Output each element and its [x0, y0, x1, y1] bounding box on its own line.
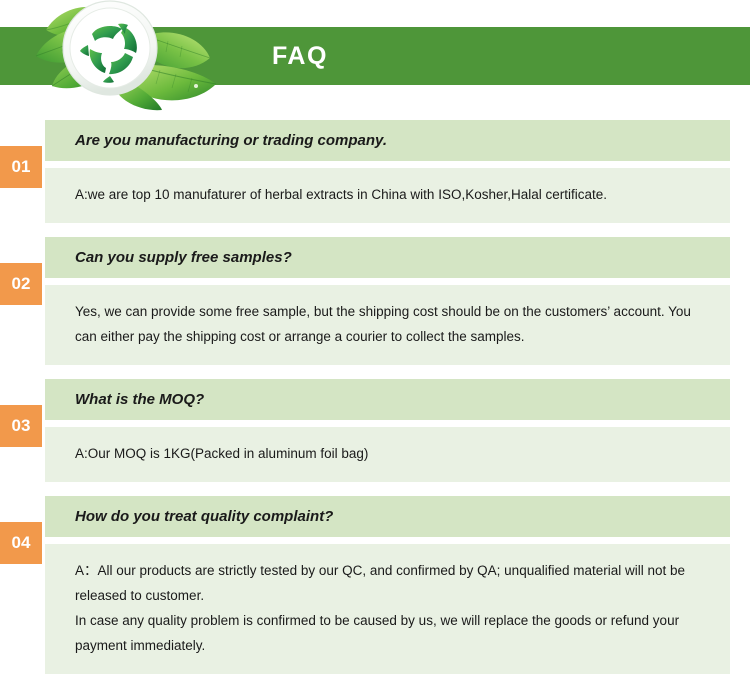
- faq-spacer: [45, 278, 730, 285]
- faq-spacer: [45, 537, 730, 544]
- faq-question[interactable]: What is the MOQ?: [45, 379, 730, 420]
- faq-number-badge: 02: [0, 263, 42, 305]
- faq-number-badge: 04: [0, 522, 42, 564]
- faq-answer-line: In case any quality problem is confirmed…: [75, 608, 708, 658]
- faq-answer-line: A：All our products are strictly tested b…: [75, 558, 708, 608]
- faq-answer: A:we are top 10 manufaturer of herbal ex…: [45, 168, 730, 223]
- green-leaf-recycle-logo: [18, 0, 228, 112]
- faq-answer-line: A:Our MOQ is 1KG(Packed in aluminum foil…: [75, 441, 708, 466]
- faq-qa-block: What is the MOQ? A:Our MOQ is 1KG(Packed…: [45, 379, 730, 482]
- faq-question[interactable]: How do you treat quality complaint?: [45, 496, 730, 537]
- faq-number-badge: 03: [0, 405, 42, 447]
- faq-spacer: [45, 161, 730, 168]
- faq-item: 03 What is the MOQ? A:Our MOQ is 1KG(Pac…: [0, 379, 750, 482]
- faq-question[interactable]: Are you manufacturing or trading company…: [45, 120, 730, 161]
- faq-item: 04 How do you treat quality complaint? A…: [0, 496, 750, 674]
- faq-item: 01 Are you manufacturing or trading comp…: [0, 120, 750, 223]
- faq-item: 02 Can you supply free samples? Yes, we …: [0, 237, 750, 365]
- faq-answer: A:Our MOQ is 1KG(Packed in aluminum foil…: [45, 427, 730, 482]
- faq-answer-line: Yes, we can provide some free sample, bu…: [75, 299, 708, 349]
- faq-number-badge: 01: [0, 146, 42, 188]
- faq-qa-block: Are you manufacturing or trading company…: [45, 120, 730, 223]
- faq-qa-block: Can you supply free samples? Yes, we can…: [45, 237, 730, 365]
- page-title: FAQ: [272, 40, 328, 72]
- faq-answer: Yes, we can provide some free sample, bu…: [45, 285, 730, 365]
- faq-list: 01 Are you manufacturing or trading comp…: [0, 120, 750, 688]
- faq-spacer: [45, 420, 730, 427]
- faq-question[interactable]: Can you supply free samples?: [45, 237, 730, 278]
- faq-qa-block: How do you treat quality complaint? A：Al…: [45, 496, 730, 674]
- page-header: FAQ: [0, 0, 750, 120]
- faq-answer: A：All our products are strictly tested b…: [45, 544, 730, 674]
- faq-answer-line: A:we are top 10 manufaturer of herbal ex…: [75, 182, 708, 207]
